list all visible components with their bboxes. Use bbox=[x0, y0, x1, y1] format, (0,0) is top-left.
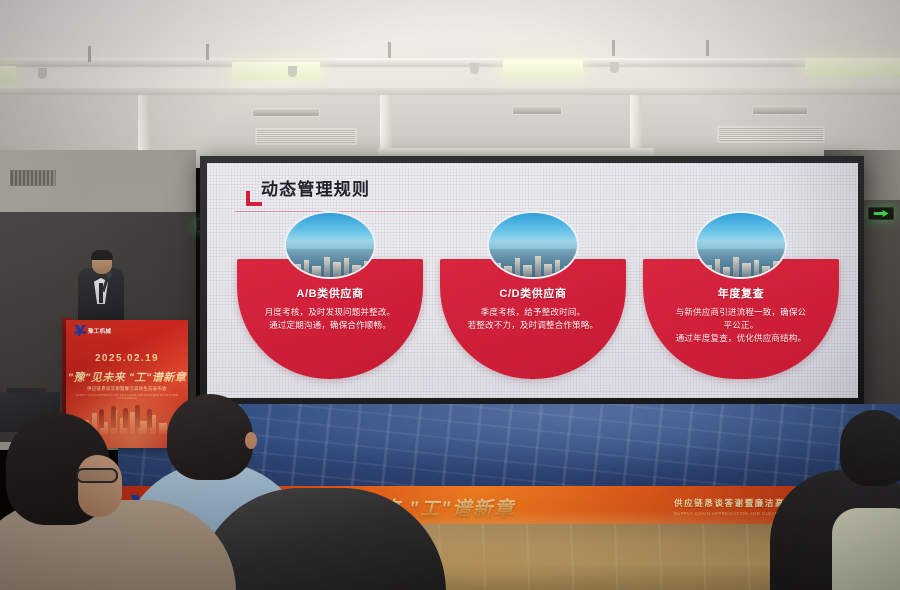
slide-card-line: 通过定期沟通，确保合作顺畅。 bbox=[245, 319, 415, 332]
slide-card-row: A/B类供应商 月度考核，及时发现问题并整改。 通过定期沟通，确保合作顺畅。 bbox=[237, 235, 839, 379]
exit-arrow-icon bbox=[874, 210, 889, 217]
slide-card-heading: 年度复查 bbox=[651, 285, 831, 301]
microphone-head-icon bbox=[106, 272, 112, 278]
ceiling-hanger bbox=[612, 40, 615, 56]
ac-vent bbox=[717, 126, 825, 143]
ceiling-beam bbox=[0, 58, 900, 67]
sprinkler-head-icon bbox=[610, 62, 619, 73]
photo-cityscape bbox=[286, 249, 374, 277]
slide-card-line: 平公正。 bbox=[651, 319, 831, 332]
ceiling-hanger bbox=[88, 46, 91, 62]
presentation-slide: 动态管理规则 bbox=[207, 163, 858, 398]
ac-grille bbox=[252, 108, 320, 117]
audience-head bbox=[167, 394, 253, 480]
audience-head bbox=[840, 410, 900, 486]
led-screen-frame: 动态管理规则 bbox=[200, 156, 864, 406]
rollup-subtitle-en: SUPPLY CHAIN APPRECIATION AND CLEAN AND … bbox=[66, 394, 188, 400]
ceiling-hanger bbox=[206, 44, 209, 60]
slide-card-line: 与新供应商引进流程一致，确保公 bbox=[651, 306, 831, 319]
sprinkler-head-icon bbox=[38, 68, 47, 79]
photo-sky bbox=[697, 213, 785, 244]
ceiling-light-panel bbox=[805, 58, 900, 75]
slide-title-group: 动态管理规则 bbox=[261, 181, 370, 198]
slide-card-heading: A/B类供应商 bbox=[245, 285, 415, 301]
photo-sky bbox=[489, 213, 577, 244]
ac-grille bbox=[512, 106, 562, 115]
slide-card-line: 月度考核，及时发现问题并整改。 bbox=[245, 306, 415, 319]
city-skyline-photo bbox=[284, 211, 376, 279]
rollup-subtitle: 供应链恳谈答谢暨廉洁高效生态发布会 bbox=[66, 386, 188, 392]
ac-grille bbox=[752, 106, 808, 115]
ceiling-light-panel bbox=[0, 66, 16, 83]
city-skyline-photo bbox=[487, 211, 579, 279]
ceiling-light-panel bbox=[232, 62, 320, 79]
av-cable bbox=[6, 388, 46, 393]
conference-photo-scene: 动态管理规则 bbox=[0, 0, 900, 590]
led-screen: 动态管理规则 bbox=[207, 163, 858, 398]
ceiling-light-panel bbox=[503, 60, 583, 77]
audience-ear bbox=[245, 432, 257, 449]
rollup-logo-cn: 豫工机械 bbox=[88, 327, 111, 335]
slide-card: 年度复查 与新供应商引进流程一致，确保公 平公正。 通过年度复查，优化供应商结构… bbox=[643, 235, 839, 379]
photo-sky bbox=[286, 213, 374, 244]
sprinkler-head-icon bbox=[470, 63, 479, 74]
rollup-logo: 豫工机械 bbox=[74, 325, 111, 336]
ac-vent bbox=[255, 128, 357, 145]
rollup-slogan: "豫"见未来 "工"谱新章 bbox=[66, 369, 188, 385]
slide-title: 动态管理规则 bbox=[261, 181, 370, 198]
ceiling-hanger bbox=[388, 42, 391, 58]
eyeglasses-icon bbox=[76, 468, 118, 483]
chair-back bbox=[832, 508, 900, 590]
audience-face bbox=[78, 455, 122, 517]
wall-vent bbox=[10, 170, 56, 186]
title-corner-bracket-icon bbox=[246, 191, 262, 206]
slide-card: A/B类供应商 月度考核，及时发现问题并整改。 通过定期沟通，确保合作顺畅。 bbox=[237, 235, 423, 379]
slide-card-line: 季度考核，给予整改时间。 bbox=[448, 306, 618, 319]
speaker-hair bbox=[91, 250, 113, 260]
slide-card-heading: C/D类供应商 bbox=[448, 285, 618, 301]
exit-sign-right bbox=[868, 207, 894, 220]
ceiling-hanger bbox=[706, 40, 709, 56]
sprinkler-head-icon bbox=[288, 66, 297, 77]
photo-cityscape bbox=[697, 249, 785, 277]
slide-card-line: 通过年度复查，优化供应商结构。 bbox=[651, 332, 831, 345]
photo-cityscape bbox=[489, 249, 577, 277]
slide-card-line: 若整改不力，及时调整合作策略。 bbox=[448, 319, 618, 332]
rollup-date: 2025.02.19 bbox=[66, 353, 188, 364]
yg-logo-icon bbox=[74, 325, 86, 336]
ceiling-beam bbox=[0, 88, 900, 95]
ceiling bbox=[0, 0, 900, 168]
city-skyline-photo bbox=[695, 211, 787, 279]
slide-card: C/D类供应商 季度考核，给予整改时间。 若整改不力，及时调整合作策略。 bbox=[440, 235, 626, 379]
